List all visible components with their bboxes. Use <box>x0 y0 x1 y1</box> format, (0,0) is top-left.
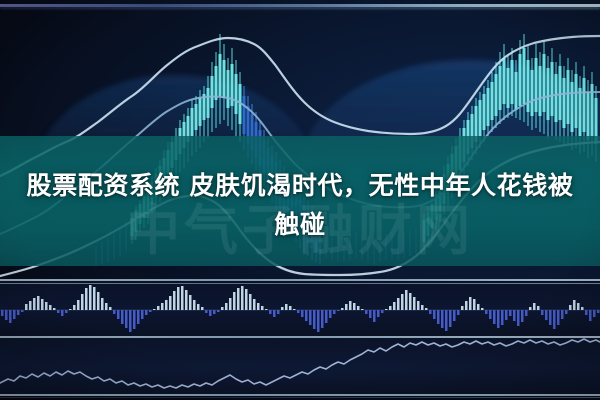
oscillator-panel-bottom-divider <box>0 394 600 396</box>
chart-banner-image: 中气子融财网 股票配资系统 皮肤饥渴时代，无性中年人花钱被触碰 <box>0 0 600 400</box>
oscillator-line-layer <box>0 0 600 400</box>
oscillator-trend-path <box>0 339 600 388</box>
bottom-edge-rule <box>0 397 600 398</box>
